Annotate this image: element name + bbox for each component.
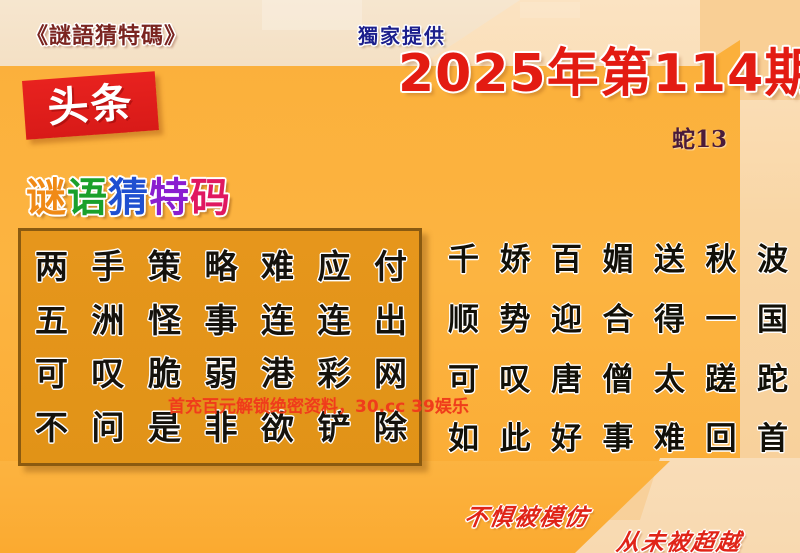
verse-line: 千娇百媚送秋波 <box>448 244 788 277</box>
rainbow-heading-char-1: 语 <box>67 178 108 218</box>
rainbow-heading-char-2: 猜 <box>108 178 149 218</box>
verse-char: 得 <box>654 304 685 337</box>
verse-char: 唐 <box>551 364 582 397</box>
riddle-char: 出 <box>374 304 407 339</box>
riddle-char: 脆 <box>148 357 181 392</box>
riddle-char: 弱 <box>205 357 238 392</box>
promo-watermark: 首充百元解锁绝密资料，30.cc 39娱乐 <box>168 392 469 417</box>
verse-char: 如 <box>448 423 479 456</box>
issue-title: 2025年第114期 <box>398 48 800 100</box>
riddle-char: 手 <box>92 250 125 285</box>
verse-char: 势 <box>500 304 531 337</box>
rainbow-heading: 谜语猜特码 <box>26 178 231 218</box>
riddle-box: 两手策略难应付五洲怪事连连出可叹脆弱港彩网不问是非欲铲除 <box>18 228 422 466</box>
riddle-line: 五洲怪事连连出 <box>35 304 407 339</box>
slogan-left: 不惧被模仿 <box>462 498 592 532</box>
series-title: 《謎語猜特碼》 <box>26 18 187 50</box>
verse-char: 难 <box>654 423 685 456</box>
riddle-char: 难 <box>261 250 294 285</box>
riddle-char: 连 <box>318 304 351 339</box>
background-ghost-block-secondary <box>520 2 580 18</box>
verse-char: 叹 <box>500 364 531 397</box>
riddle-char: 事 <box>205 304 238 339</box>
slogan-right: 从未被超越 <box>614 523 744 553</box>
verse-char: 百 <box>551 244 582 277</box>
riddle-char: 怪 <box>148 304 181 339</box>
verse-char: 好 <box>551 423 582 456</box>
verse-char: 迎 <box>551 304 582 337</box>
verse-char: 娇 <box>500 244 531 277</box>
riddle-char: 叹 <box>92 357 125 392</box>
zodiac-code: 蛇13 <box>672 120 727 154</box>
verse-char: 回 <box>706 423 737 456</box>
riddle-line: 两手策略难应付 <box>35 250 407 285</box>
verse-char: 一 <box>706 304 737 337</box>
verse-char: 媚 <box>603 244 634 277</box>
riddle-char: 洲 <box>92 304 125 339</box>
riddle-char: 两 <box>35 250 68 285</box>
verse-char: 事 <box>603 423 634 456</box>
verse-char: 蹉 <box>706 364 737 397</box>
verse-char: 此 <box>500 423 531 456</box>
riddle-char: 略 <box>205 250 238 285</box>
verse-char: 波 <box>757 244 788 277</box>
headline-badge: 头条 <box>22 71 159 140</box>
riddle-char: 彩 <box>318 357 351 392</box>
rainbow-heading-char-4: 码 <box>190 178 231 218</box>
riddle-char: 可 <box>35 357 68 392</box>
riddle-char: 港 <box>261 357 294 392</box>
verse-char: 首 <box>757 423 788 456</box>
rainbow-heading-char-3: 特 <box>149 178 190 218</box>
verse-char: 秋 <box>706 244 737 277</box>
verse-char: 太 <box>654 364 685 397</box>
riddle-char: 应 <box>318 250 351 285</box>
verse-char: 顺 <box>448 304 479 337</box>
riddle-char: 问 <box>92 411 125 446</box>
riddle-char: 付 <box>374 250 407 285</box>
poster-canvas: 《謎語猜特碼》 头条 獨家提供 2025年第114期 蛇13 谜语猜特码 两手策… <box>0 0 800 553</box>
verse-column: 千娇百媚送秋波顺势迎合得一国可叹唐僧太蹉跎如此好事难回首 <box>448 244 788 456</box>
verse-char: 僧 <box>603 364 634 397</box>
background-ghost-block <box>262 0 362 30</box>
riddle-char: 五 <box>35 304 68 339</box>
headline-badge-label: 头条 <box>46 82 135 129</box>
verse-char: 合 <box>603 304 634 337</box>
verse-char: 千 <box>448 244 479 277</box>
riddle-char: 网 <box>374 357 407 392</box>
riddle-char: 策 <box>148 250 181 285</box>
verse-line: 顺势迎合得一国 <box>448 304 788 337</box>
verse-line: 如此好事难回首 <box>448 423 788 456</box>
verse-char: 国 <box>757 304 788 337</box>
verse-line: 可叹唐僧太蹉跎 <box>448 364 788 397</box>
verse-char: 跎 <box>757 364 788 397</box>
verse-char: 送 <box>654 244 685 277</box>
rainbow-heading-char-0: 谜 <box>26 178 67 218</box>
riddle-char: 连 <box>261 304 294 339</box>
riddle-line: 可叹脆弱港彩网 <box>35 357 407 392</box>
riddle-char: 不 <box>35 411 68 446</box>
